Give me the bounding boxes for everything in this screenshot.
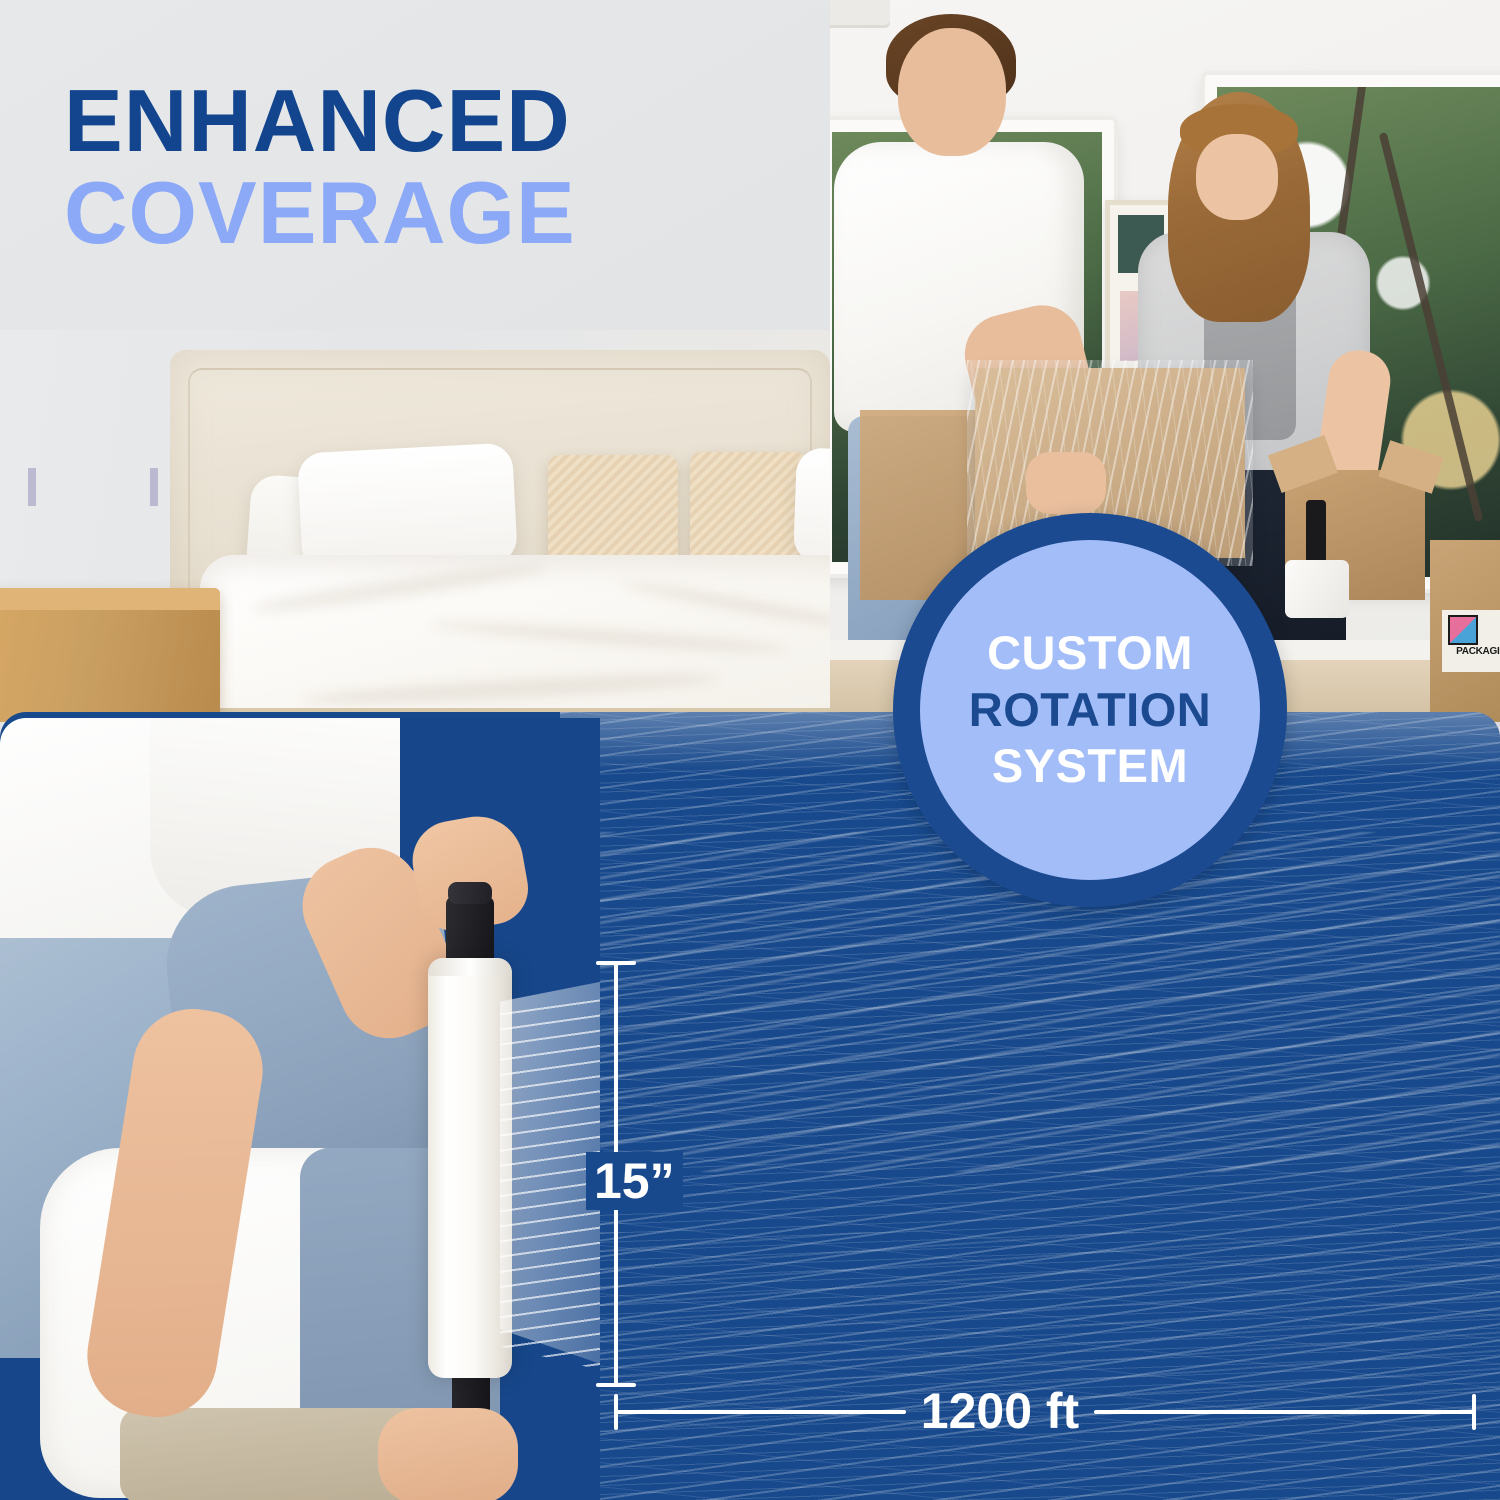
nightstand [0,588,220,722]
label-graphic-icon [1448,615,1478,645]
badge-line-3: SYSTEM [992,740,1188,793]
man-holding-stretch-wrap-photo [0,718,600,1500]
knit-cushion [690,452,808,568]
wrap-roll [1285,560,1349,618]
nightstand-leg [150,468,158,506]
pillow [297,442,518,573]
badge-line-1: CUSTOM [987,627,1193,680]
headline: ENHANCED COVERAGE [64,78,824,256]
face [898,28,1006,156]
hand [1026,452,1106,514]
width-measure-line-right [1094,1410,1476,1414]
width-measure-label: 1200 ft [920,1382,1080,1440]
hand [378,1408,518,1500]
nightstand-top [0,588,220,610]
custom-rotation-system-badge: CUSTOM ROTATION SYSTEM [893,513,1287,907]
width-measure-line-left [616,1410,906,1414]
product-infographic: PACKAGING 15” 1200 ft [0,0,1500,1500]
headline-line-2: COVERAGE [64,170,824,256]
packaging-label: PACKAGING [1442,610,1500,672]
headline-line-1: ENHANCED [64,78,824,164]
stretch-wrap-roll [428,958,512,1378]
nightstand-leg [28,468,36,506]
height-measure-cap-bottom [596,1383,636,1387]
height-measure-label: 15” [586,1152,683,1210]
packaging-box: PACKAGING [1430,540,1500,722]
width-measure-cap-right [1472,1394,1476,1430]
packaging-label-text: PACKAGING [1445,646,1500,657]
knit-cushion [548,455,678,568]
face [1196,134,1278,220]
badge-inner-circle: CUSTOM ROTATION SYSTEM [920,540,1260,880]
bedroom-photo [0,330,900,722]
badge-line-2: ROTATION [969,684,1211,737]
stretch-film-streaks [500,968,600,1398]
